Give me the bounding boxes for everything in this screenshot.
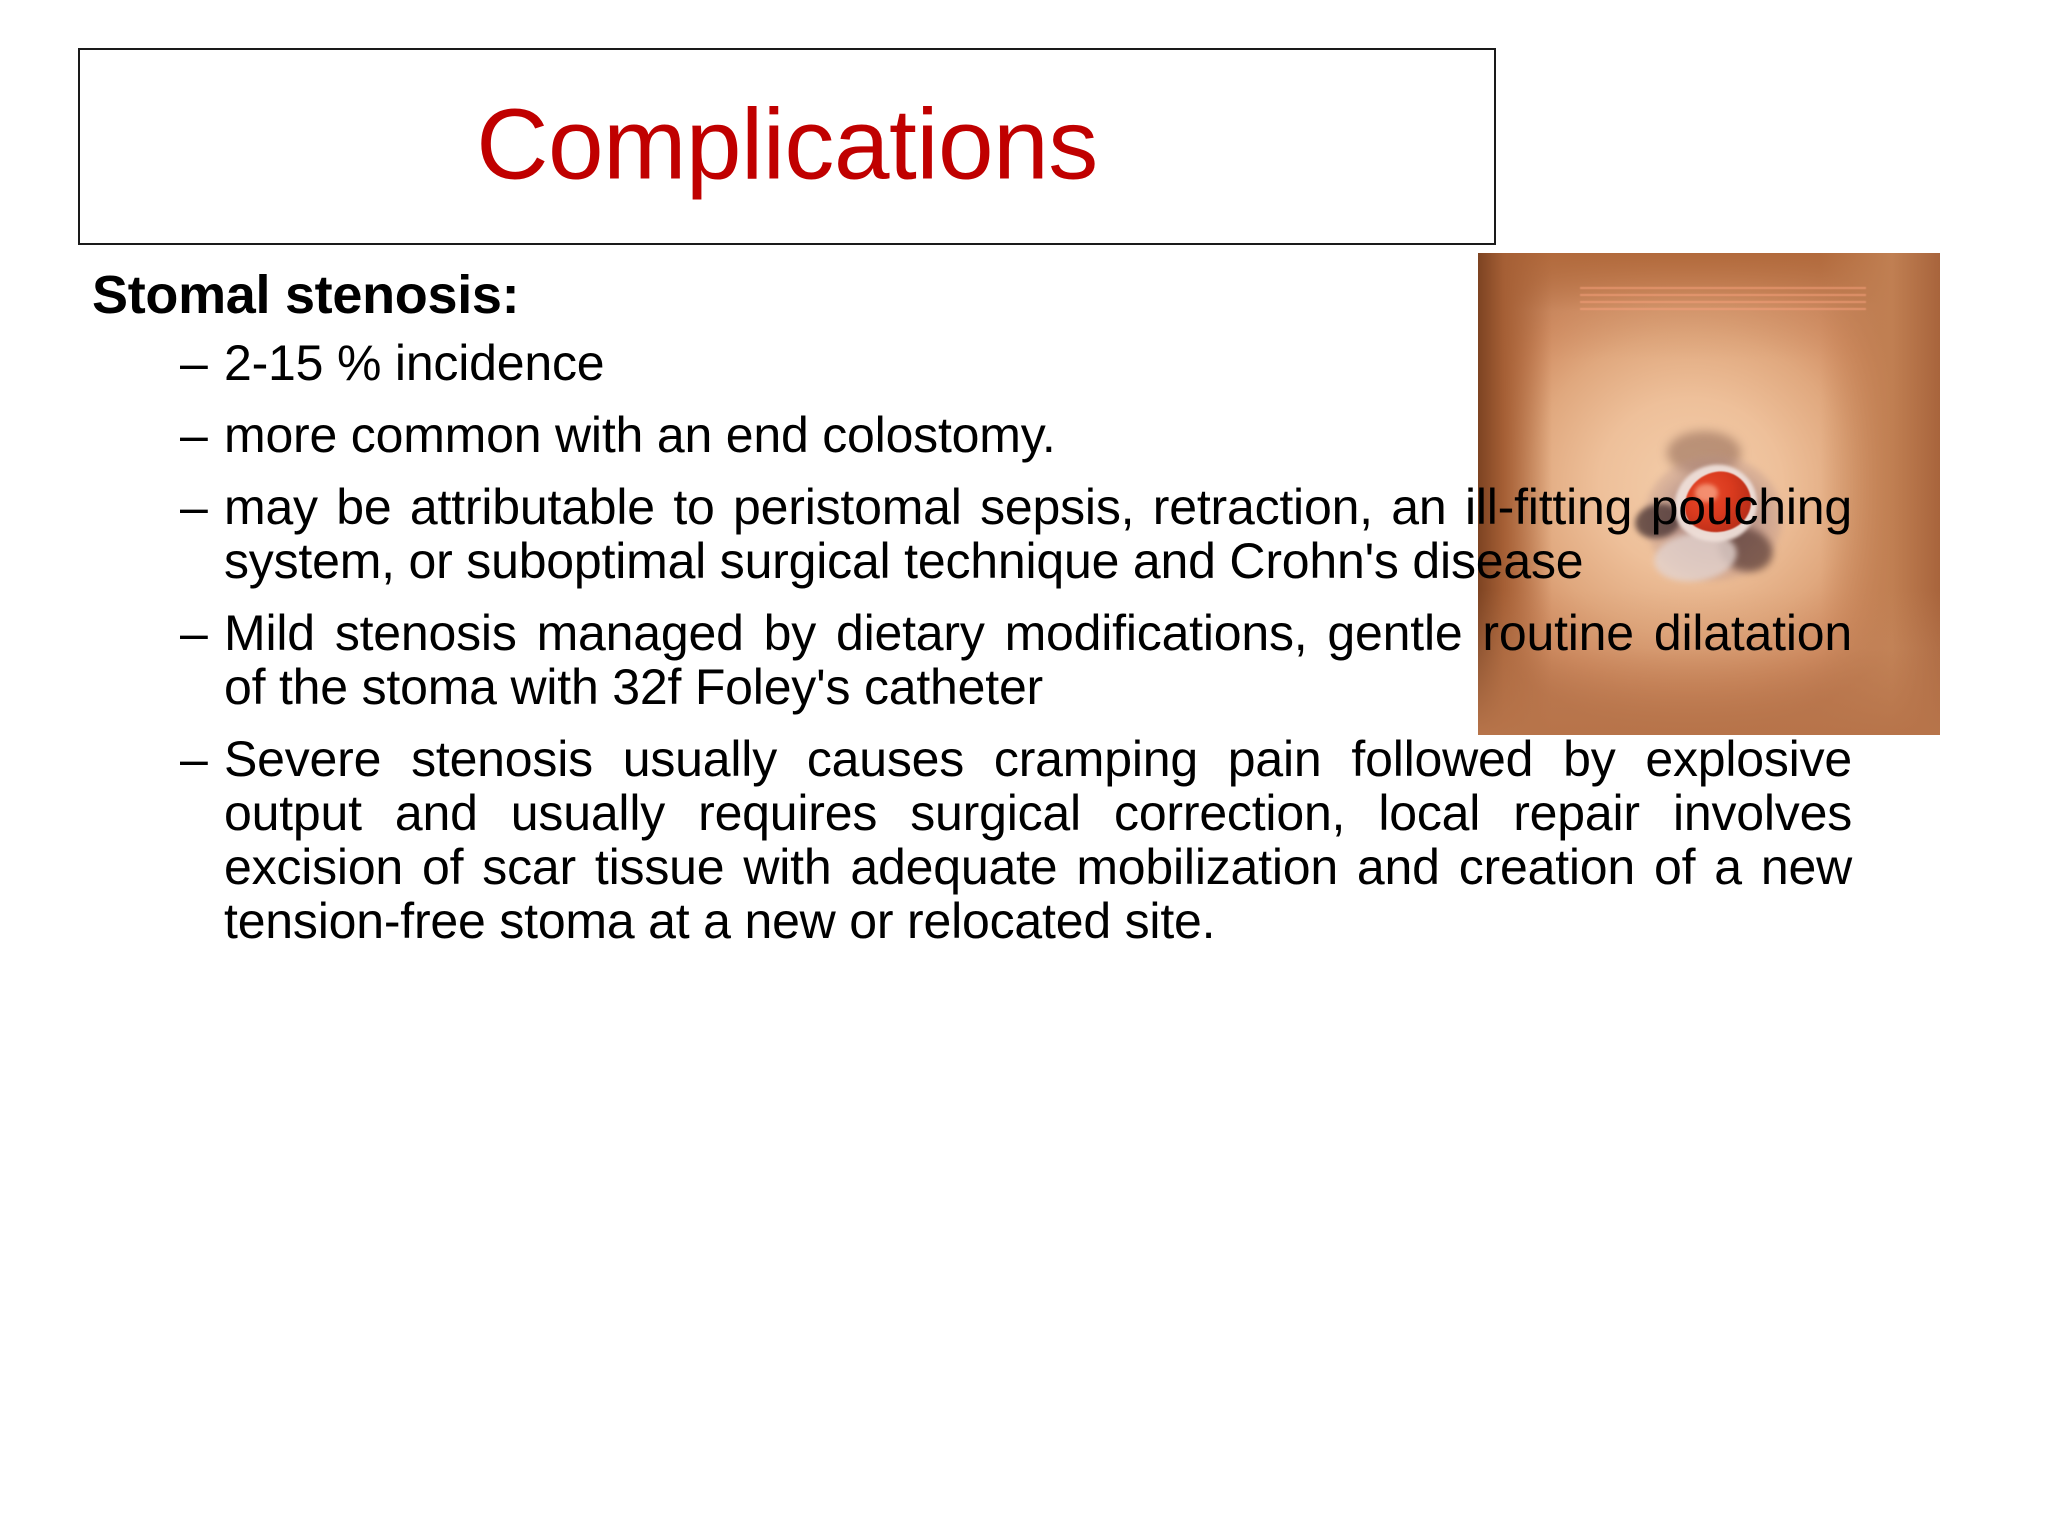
bullet-dash-icon: – (180, 480, 208, 534)
title-box: Complications (78, 48, 1496, 245)
list-item-text: more common with an end colostomy. (224, 407, 1056, 463)
bullet-list: – 2-15 % incidence – more common with an… (92, 336, 1972, 948)
lead-heading: Stomal stenosis: (92, 268, 1972, 322)
list-item: – may be attributable to peristomal seps… (92, 480, 1852, 588)
list-item: – Mild stenosis managed by dietary modif… (92, 606, 1852, 714)
list-item-text: Severe stenosis usually causes cramping … (224, 731, 1852, 949)
list-item: – 2-15 % incidence (92, 336, 1852, 390)
bullet-dash-icon: – (180, 408, 208, 462)
bullet-dash-icon: – (180, 606, 208, 660)
list-item-text: may be attributable to peristomal sepsis… (224, 479, 1852, 589)
slide-body: Stomal stenosis: – 2-15 % incidence – mo… (92, 268, 1972, 948)
bullet-dash-icon: – (180, 336, 208, 390)
list-item: – Severe stenosis usually causes crampin… (92, 732, 1852, 948)
list-item: – more common with an end colostomy. (92, 408, 1852, 462)
slide-root: { "slide": { "title": "Complications", "… (0, 0, 2048, 1536)
list-item-text: Mild stenosis managed by dietary modific… (224, 605, 1852, 715)
list-item-text: 2-15 % incidence (224, 335, 604, 391)
page-title: Complications (80, 92, 1494, 197)
bullet-dash-icon: – (180, 732, 208, 786)
